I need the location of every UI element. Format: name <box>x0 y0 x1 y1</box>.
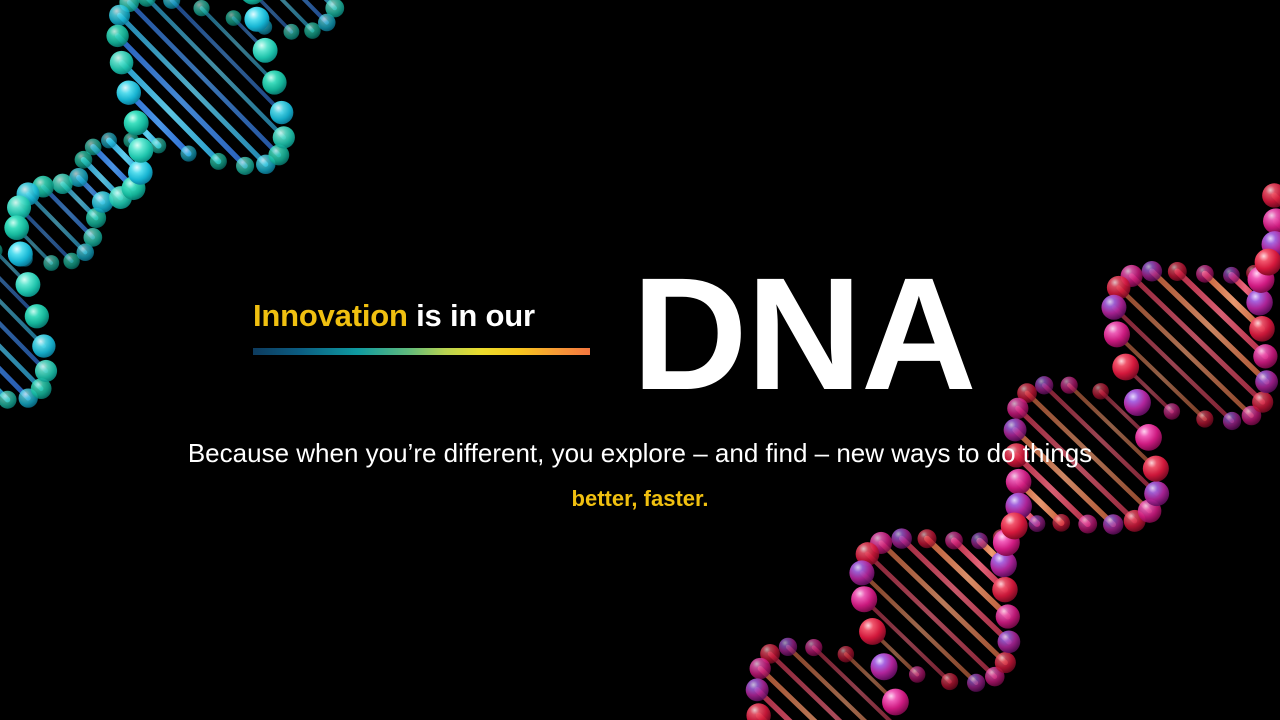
headline-block: Innovation is in our DNA <box>0 272 1280 412</box>
eyebrow-wrap: Innovation is in our <box>253 272 590 355</box>
eyebrow-highlight-word: Innovation <box>253 298 408 333</box>
gradient-rule <box>253 348 590 355</box>
subtitle-block: Because when you’re different, you explo… <box>0 437 1280 513</box>
slide-canvas: Innovation is in our DNA Because when yo… <box>0 0 1280 720</box>
tagline-line: better, faster. <box>0 485 1280 514</box>
eyebrow-line: Innovation is in our <box>253 300 590 333</box>
eyebrow-rest-text: is in our <box>408 298 535 333</box>
headline-row: Innovation is in our DNA <box>253 272 976 397</box>
subtitle-line: Because when you’re different, you explo… <box>0 437 1280 471</box>
page-title: DNA <box>632 272 976 397</box>
